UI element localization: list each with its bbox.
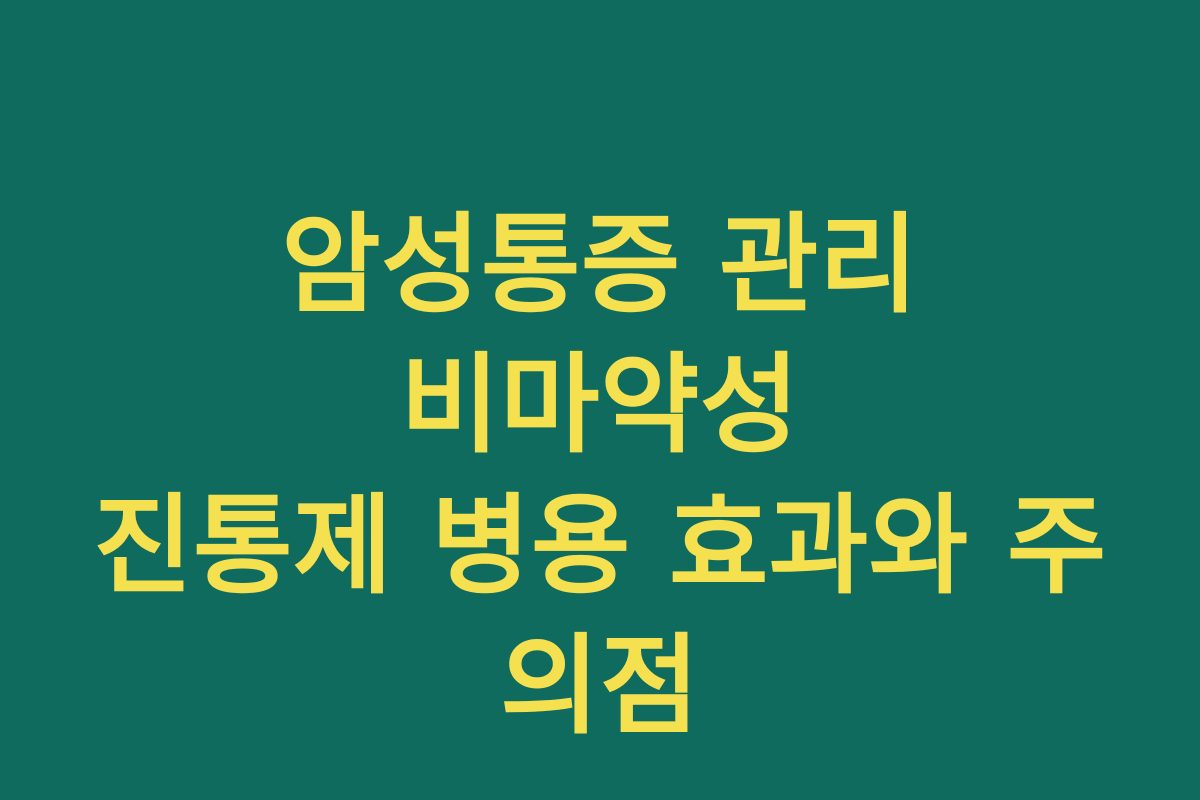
title-card: 암성통증 관리 비마약성 진통제 병용 효과와 주 의점 <box>0 0 1200 800</box>
headline-line-2: 진통제 병용 효과와 주 <box>78 477 1122 617</box>
headline-line-1: 암성통증 관리 비마약성 <box>78 196 1122 477</box>
headline-line-3: 의점 <box>78 617 1122 757</box>
page-title: 암성통증 관리 비마약성 진통제 병용 효과와 주 의점 <box>78 196 1122 758</box>
headline-block: 암성통증 관리 비마약성 진통제 병용 효과와 주 의점 <box>70 196 1130 758</box>
